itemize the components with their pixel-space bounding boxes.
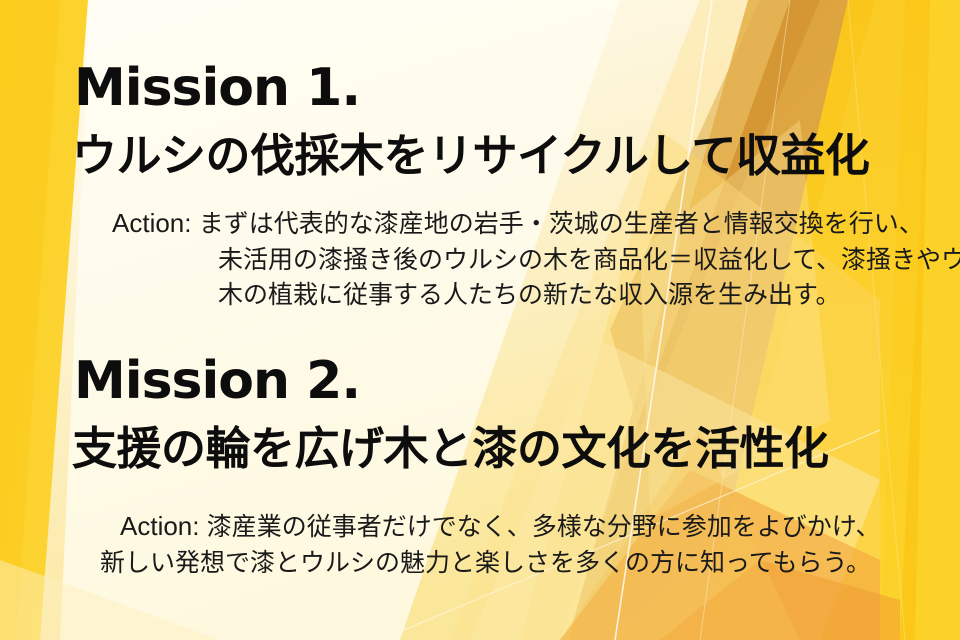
mission-1-title: Mission 1. — [0, 62, 960, 114]
mission-1-block: Mission 1. — [0, 62, 960, 114]
mission-1-action-label: Action: — [112, 208, 199, 238]
mission-1-headline-row: ウルシの伐採木をリサイクルして収益化 — [0, 132, 960, 179]
mission-1-headline: ウルシの伐採木をリサイクルして収益化 — [0, 132, 960, 179]
mission-2-action-text-1: 漆産業の従事者だけでなく、多様な分野に参加をよびかけ、 — [207, 513, 881, 541]
mission-2-action-line-1: Action: 漆産業の従事者だけでなく、多様な分野に参加をよびかけ、 — [0, 508, 960, 546]
mission-2-block: Mission 2. — [0, 355, 960, 407]
mission-2-headline-row: 支援の輪を広げ木と漆の文化を活性化 — [0, 425, 960, 472]
mission-1-action-text-1: まずは代表的な漆産地の岩手・茨城の生産者と情報交換を行い、 — [199, 210, 924, 238]
mission-1-action-line-2: 未活用の漆掻き後のウルシの木を商品化＝収益化して、漆掻きやウルシの — [112, 243, 960, 279]
mission-1-action: Action: まずは代表的な漆産地の岩手・茨城の生産者と情報交換を行い、 未活… — [0, 205, 960, 314]
mission-1-action-line-3: 木の植栽に従事する人たちの新たな収入源を生み出す。 — [112, 278, 960, 314]
slide-content: Mission 1. ウルシの伐採木をリサイクルして収益化 Action: まず… — [0, 0, 960, 640]
mission-2-title: Mission 2. — [0, 355, 960, 407]
presentation-slide: Mission 1. ウルシの伐採木をリサイクルして収益化 Action: まず… — [0, 0, 960, 640]
mission-2-action: Action: 漆産業の従事者だけでなく、多様な分野に参加をよびかけ、 新しい発… — [0, 508, 960, 581]
mission-2-headline: 支援の輪を広げ木と漆の文化を活性化 — [0, 425, 960, 472]
mission-1-action-line-1: Action: まずは代表的な漆産地の岩手・茨城の生産者と情報交換を行い、 — [112, 205, 960, 243]
mission-2-action-label: Action: — [120, 511, 207, 541]
mission-2-action-line-2: 新しい発想で漆とウルシの魅力と楽しさを多くの方に知ってもらう。 — [0, 546, 960, 582]
